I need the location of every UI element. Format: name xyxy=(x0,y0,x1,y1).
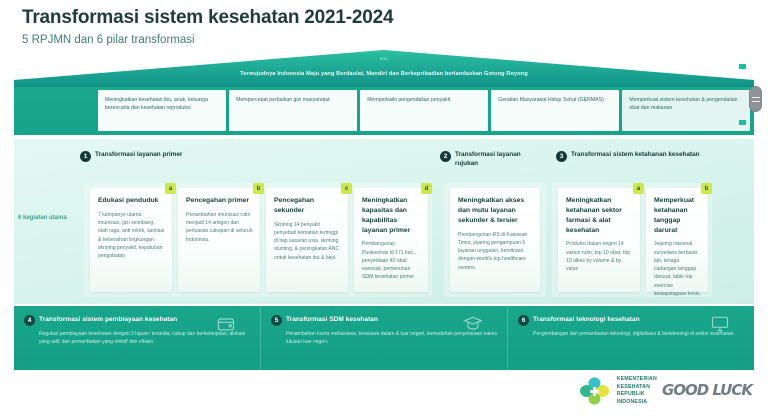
ministry-logo: KEMENTERIAN KESEHATAN REPUBLIK INDONESIA… xyxy=(578,376,752,406)
ministry-line-4: INDONESIA xyxy=(617,399,657,407)
pillar-4[interactable]: 4 Transformasi sistem pembiayaan kesehat… xyxy=(14,306,261,370)
card-tag: b xyxy=(253,183,264,194)
card-title: Meningkatkan akses dan mutu layanan seku… xyxy=(458,196,533,226)
pillar-title: Transformasi teknologi kesehatan xyxy=(533,315,640,325)
ministry-name: KEMENTERIAN KESEHATAN REPUBLIK INDONESIA xyxy=(617,376,657,406)
page-header: Transformasi sistem kesehatan 2021-2024 … xyxy=(0,0,768,52)
roof-banner: visi Terwujudnya Indonesia Maju yang Ber… xyxy=(14,50,754,90)
card-title: Pencegahan sekunder xyxy=(274,196,341,216)
activity-card[interactable]: Meningkatkan akses dan mutu layanan seku… xyxy=(450,188,540,292)
card-tag: b xyxy=(701,183,712,194)
ministry-line-1: KEMENTERIAN xyxy=(617,376,657,384)
pillar-header-1: 1 Transformasi layanan primer xyxy=(80,150,280,162)
card-tag: a xyxy=(633,183,644,194)
pillar-header-3: 3 Transformasi sistem ketahanan kesehata… xyxy=(556,150,701,162)
card-title: Meningkatkan ketahanan sektor farmasi & … xyxy=(566,196,633,235)
card-title: Memperkuat ketahanan tanggap darurat xyxy=(654,196,701,235)
card-body: Penambahan imunisasi rutin menjadi 14 an… xyxy=(186,211,253,244)
activity-card[interactable]: b Memperkuat ketahanan tanggap darurat J… xyxy=(646,188,708,292)
handle-grip-line xyxy=(752,97,760,98)
card-title: Meningkatkan kapasitas dan kapabilitas l… xyxy=(362,196,421,235)
card-title: Pencegahan primer xyxy=(186,196,253,206)
outcome-cell: Meningkatkan kesehatan ibu, anak, keluar… xyxy=(98,90,226,131)
pillar-badge: 4 xyxy=(24,315,35,326)
pillar-title: Transformasi layanan rujukan xyxy=(455,150,545,169)
wallet-icon xyxy=(216,314,236,334)
visi-label: visi xyxy=(14,56,754,61)
ministry-line-3: REPUBLIK xyxy=(617,391,657,399)
card-body: Pembangunan RS di Kawasan Timur, jejarin… xyxy=(458,231,533,272)
card-title: Edukasi penduduk xyxy=(98,196,165,206)
pillar-badge: 1 xyxy=(80,151,91,162)
outcome-cell: Memperbaiki pengendalian penyakit xyxy=(360,90,488,131)
card-tag: a xyxy=(165,183,176,194)
outcome-cell: Gerakan Masyarakat Hidup Sehat (GERMAS) xyxy=(491,90,619,131)
card-body: Produksi dalam negeri 14 vaksin rutin, t… xyxy=(566,240,633,273)
activity-card[interactable]: c Pencegahan sekunder Skrining 14 penyak… xyxy=(266,188,348,292)
pillar-badge: 5 xyxy=(271,315,282,326)
card-body: 7 kampanye utama: imunisasi, gizi seimba… xyxy=(98,211,165,261)
card-tag: c xyxy=(341,183,352,194)
outcome-cell: Mempercepat perbaikan gizi masyarakat xyxy=(229,90,357,131)
page-subtitle: 5 RPJMN dan 6 pilar transformasi xyxy=(22,34,768,46)
pillar-title: Transformasi layanan primer xyxy=(95,150,182,159)
ministry-line-2: KESEHATAN xyxy=(617,384,657,392)
graduation-cap-icon xyxy=(463,314,483,334)
outcome-cell: Memperkuat sistem kesehatan & pengendali… xyxy=(622,90,750,131)
card-body: Jejaring nasional surveilans berbasis la… xyxy=(654,240,701,298)
scroll-handle[interactable] xyxy=(749,86,762,112)
pillar-badge: 6 xyxy=(518,315,529,326)
activity-card[interactable]: b Pencegahan primer Penambahan imunisasi… xyxy=(178,188,260,292)
activity-card[interactable]: a Edukasi penduduk 7 kampanye utama: imu… xyxy=(90,188,172,292)
bottom-pillars-panel: 4 Transformasi sistem pembiayaan kesehat… xyxy=(14,306,754,370)
activity-card[interactable]: d Meningkatkan kapasitas dan kapabilitas… xyxy=(354,188,428,292)
activity-card[interactable]: a Meningkatkan ketahanan sektor farmasi … xyxy=(558,188,640,292)
sidebar-label-kegiatan: 6 kegiatan utama xyxy=(18,214,80,223)
pillar-header-2: 2 Transformasi layanan rujukan xyxy=(440,150,545,169)
highlight-mark xyxy=(739,64,746,69)
highlight-mark xyxy=(739,120,746,125)
pillar-6[interactable]: 6 Transformasi teknologi kesehatan Penge… xyxy=(508,306,754,370)
page-title: Transformasi sistem kesehatan 2021-2024 xyxy=(22,7,768,29)
pillar-title: Transformasi sistem pembiayaan kesehatan xyxy=(39,315,177,325)
page-footer: KEMENTERIAN KESEHATAN REPUBLIK INDONESIA… xyxy=(0,370,768,420)
card-body: Skrining 14 penyakit penyebab kematian t… xyxy=(274,221,341,262)
visi-statement: Terwujudnya Indonesia Maju yang Berdaula… xyxy=(14,71,754,77)
pillar-badge: 3 xyxy=(556,151,567,162)
handle-grip-line xyxy=(752,101,760,102)
card-body: Pembangunan Puskesmas di 171 kec., penye… xyxy=(362,240,421,281)
goodluck-watermark: GOOD LUCK xyxy=(662,384,752,398)
kemenkes-emblem-icon xyxy=(578,376,612,406)
outcome-band: Meningkatkan kesehatan ibu, anak, keluar… xyxy=(14,87,754,135)
pillar-title: Transformasi SDM kesehatan xyxy=(286,315,378,325)
pillar-badge: 2 xyxy=(440,151,451,162)
monitor-icon xyxy=(710,314,730,334)
card-tag: d xyxy=(421,183,432,194)
pillar-5[interactable]: 5 Transformasi SDM kesehatan Penambahan … xyxy=(261,306,508,370)
pillar-title: Transformasi sistem ketahanan kesehatan xyxy=(571,150,700,159)
